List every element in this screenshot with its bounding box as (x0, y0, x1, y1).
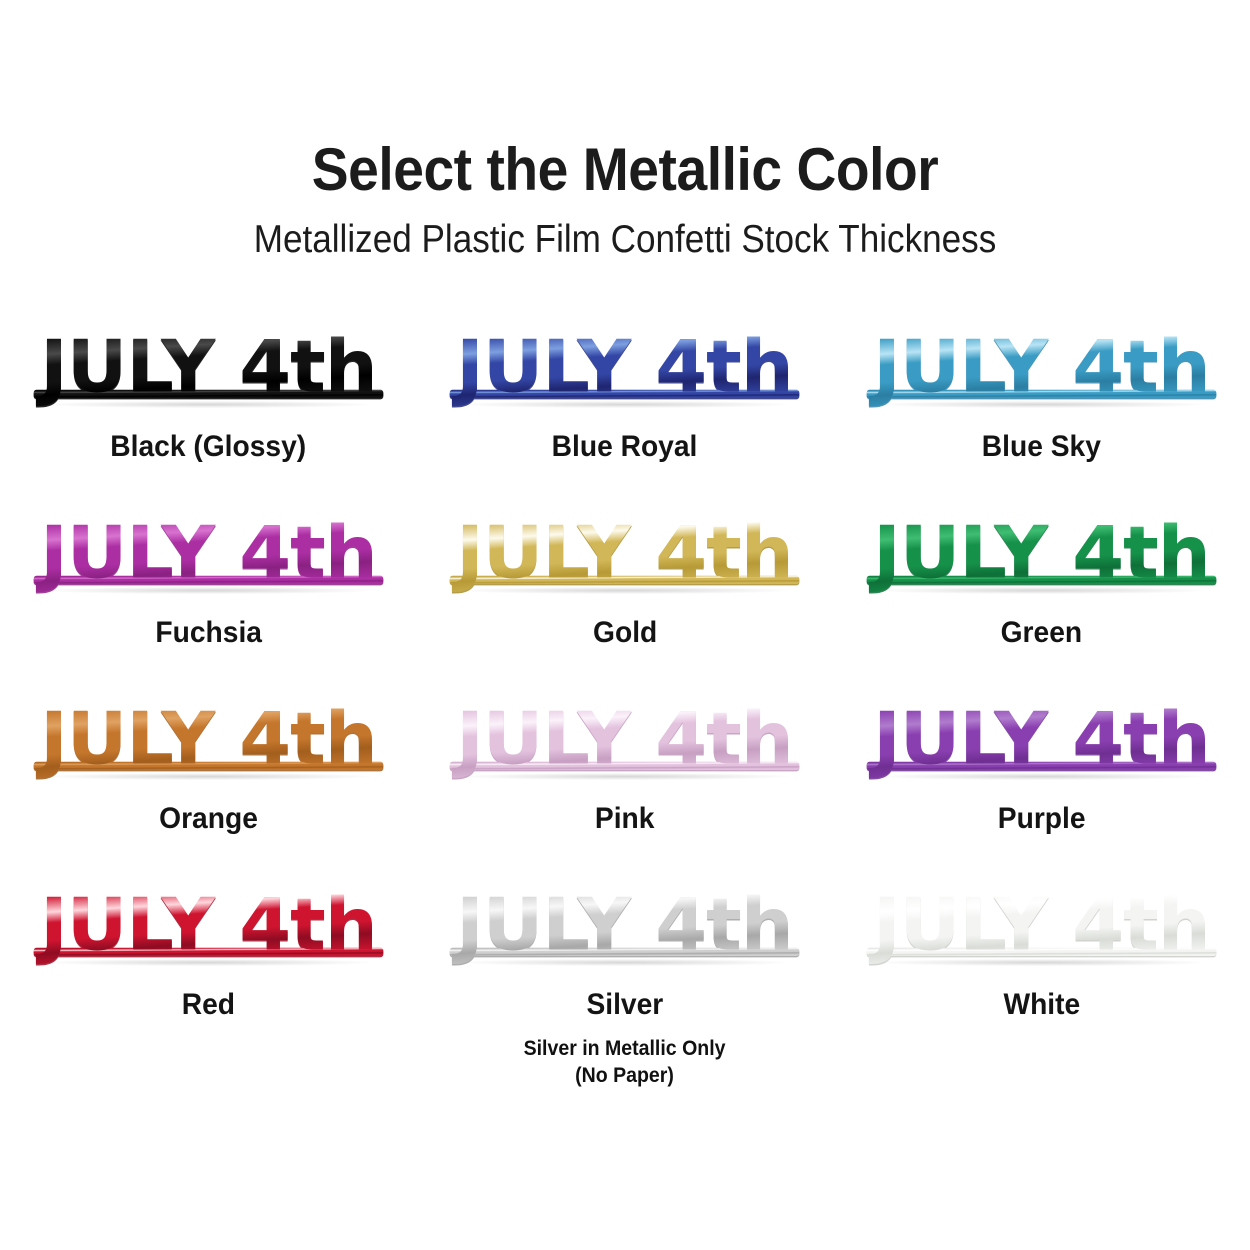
color-swatch-gold[interactable]: JULY 4thJULY 4thJULY 4thGold (417, 486, 834, 672)
color-label: Blue Sky (982, 432, 1101, 462)
july-4th-confetti-icon[interactable]: JULY 4thJULY 4thJULY 4th (432, 690, 817, 782)
heading-block: Select the Metallic Color Metallized Pla… (0, 0, 1250, 259)
july-4th-confetti-icon[interactable]: JULY 4thJULY 4thJULY 4th (849, 690, 1234, 782)
color-swatch-blue-sky[interactable]: JULY 4thJULY 4thJULY 4thBlue Sky (833, 300, 1250, 486)
color-label: Pink (595, 804, 655, 834)
svg-text:JULY 4th: JULY 4th (451, 511, 793, 595)
color-swatch-orange[interactable]: JULY 4thJULY 4thJULY 4thOrange (0, 672, 417, 858)
july-4th-confetti-icon[interactable]: JULY 4thJULY 4thJULY 4th (432, 876, 817, 968)
color-availability-note: Silver in Metallic Only (No Paper) (524, 1036, 726, 1090)
color-swatch-blue-royal[interactable]: JULY 4thJULY 4thJULY 4thBlue Royal (417, 300, 834, 486)
july-4th-confetti-icon[interactable]: JULY 4thJULY 4thJULY 4th (849, 504, 1234, 596)
color-swatch-pink[interactable]: JULY 4thJULY 4thJULY 4thPink (417, 672, 834, 858)
july-4th-confetti-icon[interactable]: JULY 4thJULY 4thJULY 4th (849, 876, 1234, 968)
svg-text:JULY 4th: JULY 4th (35, 697, 377, 781)
july-4th-confetti-icon[interactable]: JULY 4thJULY 4thJULY 4th (16, 318, 401, 410)
color-label: White (1003, 990, 1080, 1020)
color-swatch-white[interactable]: JULY 4thJULY 4thJULY 4thWhite (833, 858, 1250, 1044)
color-swatch-green[interactable]: JULY 4thJULY 4thJULY 4thGreen (833, 486, 1250, 672)
color-swatch-purple[interactable]: JULY 4thJULY 4thJULY 4thPurple (833, 672, 1250, 858)
color-swatch-fuchsia[interactable]: JULY 4thJULY 4thJULY 4thFuchsia (0, 486, 417, 672)
color-label: Purple (998, 804, 1086, 834)
july-4th-confetti-icon[interactable]: JULY 4thJULY 4thJULY 4th (432, 504, 817, 596)
svg-text:JULY 4th: JULY 4th (35, 511, 377, 595)
color-label: Black (Glossy) (110, 432, 306, 462)
color-swatch-silver[interactable]: JULY 4thJULY 4thJULY 4thSilverSilver in … (417, 858, 834, 1044)
svg-text:JULY 4th: JULY 4th (868, 697, 1210, 781)
svg-text:JULY 4th: JULY 4th (451, 325, 793, 409)
metallic-color-selector-page: Select the Metallic Color Metallized Pla… (0, 0, 1250, 1250)
color-label: Fuchsia (155, 618, 262, 648)
july-4th-confetti-icon[interactable]: JULY 4thJULY 4thJULY 4th (16, 690, 401, 782)
svg-text:JULY 4th: JULY 4th (868, 511, 1210, 595)
color-label: Gold (593, 618, 657, 648)
july-4th-confetti-icon[interactable]: JULY 4thJULY 4thJULY 4th (16, 504, 401, 596)
svg-text:JULY 4th: JULY 4th (35, 325, 377, 409)
page-subtitle: Metallized Plastic Film Confetti Stock T… (63, 220, 1188, 259)
color-label: Green (1001, 618, 1083, 648)
july-4th-confetti-icon[interactable]: JULY 4thJULY 4thJULY 4th (849, 318, 1234, 410)
svg-text:JULY 4th: JULY 4th (868, 325, 1210, 409)
svg-text:JULY 4th: JULY 4th (451, 697, 793, 781)
svg-text:JULY 4th: JULY 4th (35, 883, 377, 967)
color-swatch-red[interactable]: JULY 4thJULY 4thJULY 4thRed (0, 858, 417, 1044)
color-label: Blue Royal (552, 432, 698, 462)
color-swatch-grid: JULY 4thJULY 4thJULY 4thBlack (Glossy)JU… (0, 300, 1250, 1044)
color-swatch-black-glossy[interactable]: JULY 4thJULY 4thJULY 4thBlack (Glossy) (0, 300, 417, 486)
july-4th-confetti-icon[interactable]: JULY 4thJULY 4thJULY 4th (16, 876, 401, 968)
color-label: Orange (159, 804, 258, 834)
color-label: Red (182, 990, 235, 1020)
color-label: Silver (587, 990, 664, 1020)
july-4th-confetti-icon[interactable]: JULY 4thJULY 4thJULY 4th (432, 318, 817, 410)
page-title: Select the Metallic Color (50, 140, 1200, 200)
svg-text:JULY 4th: JULY 4th (451, 883, 793, 967)
svg-text:JULY 4th: JULY 4th (868, 883, 1210, 967)
